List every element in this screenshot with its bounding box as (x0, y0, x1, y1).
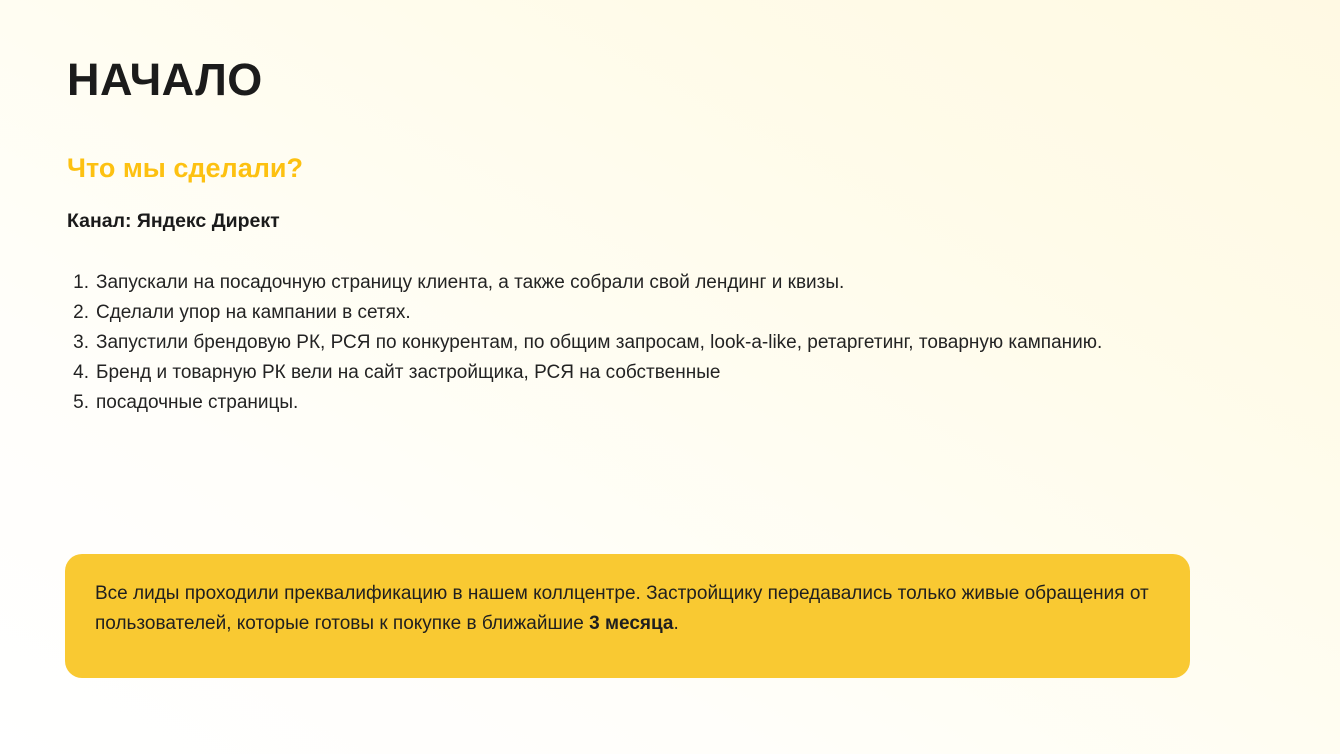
list-item: Запускали на посадочную страницу клиента… (67, 268, 1187, 298)
callout-box: Все лиды проходили преквалификацию в наш… (65, 554, 1190, 678)
channel-label: Канал: Яндекс Директ (67, 209, 280, 233)
page-title: НАЧАЛО (67, 56, 263, 103)
list-item: Запустили брендовую РК, РСЯ по конкурент… (67, 328, 1187, 358)
callout-highlight: 3 месяца (589, 613, 673, 634)
slide-canvas: НАЧАЛО Что мы сделали? Канал: Яндекс Дир… (0, 0, 1340, 754)
list-item: Бренд и товарную РК вели на сайт застрой… (67, 358, 1187, 388)
section-heading: Что мы сделали? (67, 152, 303, 184)
callout-text: Все лиды проходили преквалификацию в наш… (95, 579, 1160, 639)
callout-text-after: . (674, 613, 679, 634)
list-item: Сделали упор на кампании в сетях. (67, 298, 1187, 328)
list-item: посадочные страницы. (67, 388, 1187, 418)
steps-list: Запускали на посадочную страницу клиента… (67, 268, 1187, 418)
